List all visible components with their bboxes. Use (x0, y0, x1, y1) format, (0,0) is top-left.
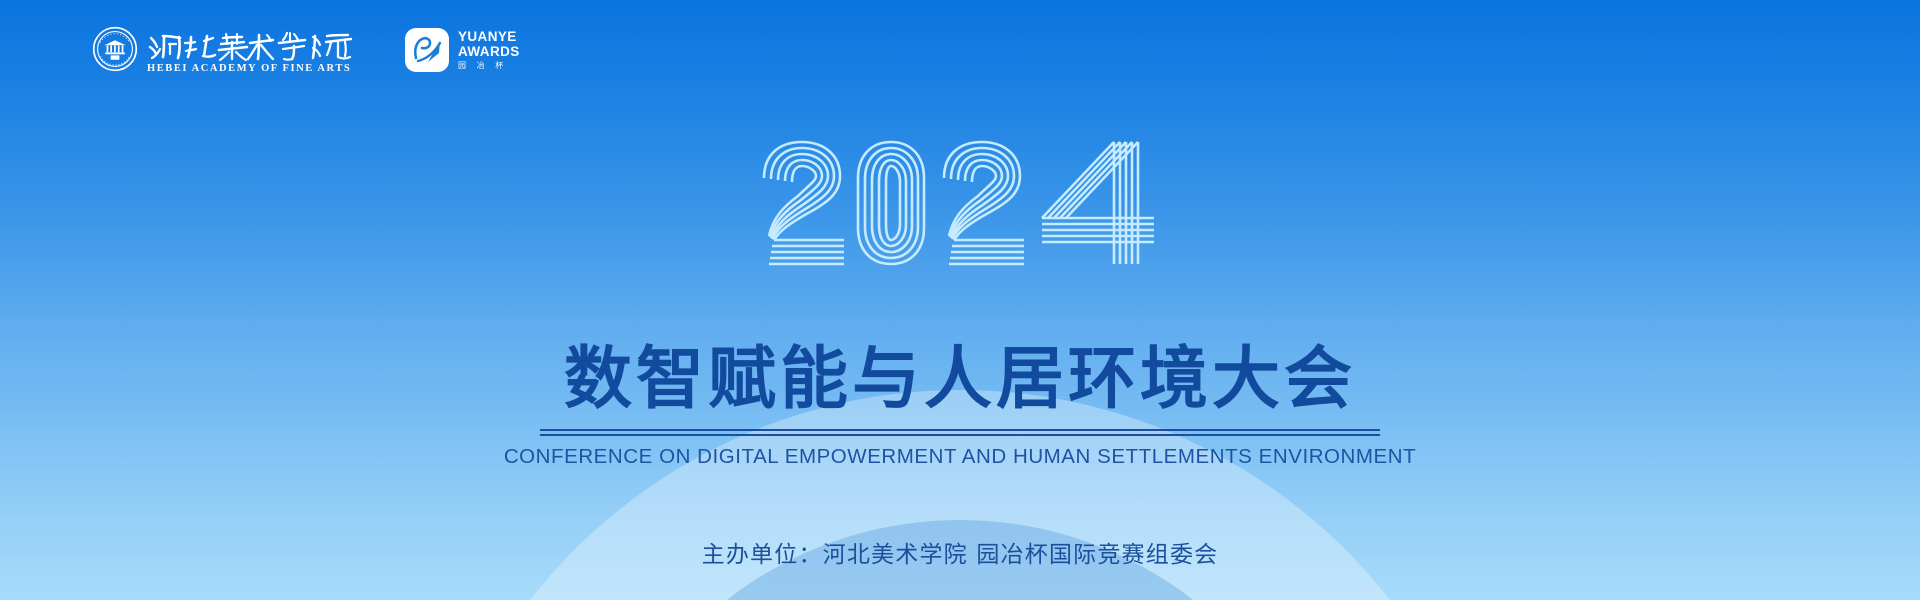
hebei-academy-seal-icon (92, 26, 138, 72)
conference-banner: HEBEI ACADEMY OF FINE ARTS YUANYE AWARDS… (0, 0, 1920, 600)
conference-title-cn: 数智赋能与人居环境大会 (564, 344, 1356, 416)
year-digit-2b-base (949, 240, 1024, 264)
conference-subtitle-en: CONFERENCE ON DIGITAL EMPOWERMENT AND HU… (504, 445, 1416, 469)
divider-line-top (540, 429, 1380, 431)
title-block: 数智赋能与人居环境大会 CONFERENCE ON DIGITAL EMPOWE… (0, 344, 1920, 469)
hebei-academy-name-cn (147, 29, 359, 61)
hebei-academy-wordmark: HEBEI ACADEMY OF FINE ARTS (147, 29, 359, 75)
yuanye-line2: AWARDS (458, 45, 520, 59)
year-digit-4 (1042, 142, 1154, 264)
year-digit-2b (944, 142, 1020, 240)
yuanye-awards-mark-icon (405, 28, 449, 72)
yuanye-awards-wordmark: YUANYE AWARDS 园 冶 杯 (458, 30, 520, 69)
year-digit-2a (764, 142, 840, 240)
hebei-academy-name-en: HEBEI ACADEMY OF FINE ARTS (147, 64, 359, 75)
yuanye-line1: YUANYE (458, 30, 520, 44)
logo-yuanye-awards[interactable]: YUANYE AWARDS 园 冶 杯 (405, 28, 520, 72)
organizer-line: 主办单位：河北美术学院 园冶杯国际竞赛组委会 (0, 535, 1920, 569)
yuanye-name-cn: 园 冶 杯 (458, 62, 520, 70)
year-digit-2a-base (769, 240, 844, 264)
divider-line-bottom (540, 434, 1380, 436)
year-digit-0 (858, 142, 924, 264)
logo-hebei-academy[interactable]: HEBEI ACADEMY OF FINE ARTS (92, 26, 359, 74)
logo-row: HEBEI ACADEMY OF FINE ARTS YUANYE AWARDS… (92, 26, 520, 74)
hero-year (0, 136, 1920, 266)
title-divider (540, 429, 1380, 436)
